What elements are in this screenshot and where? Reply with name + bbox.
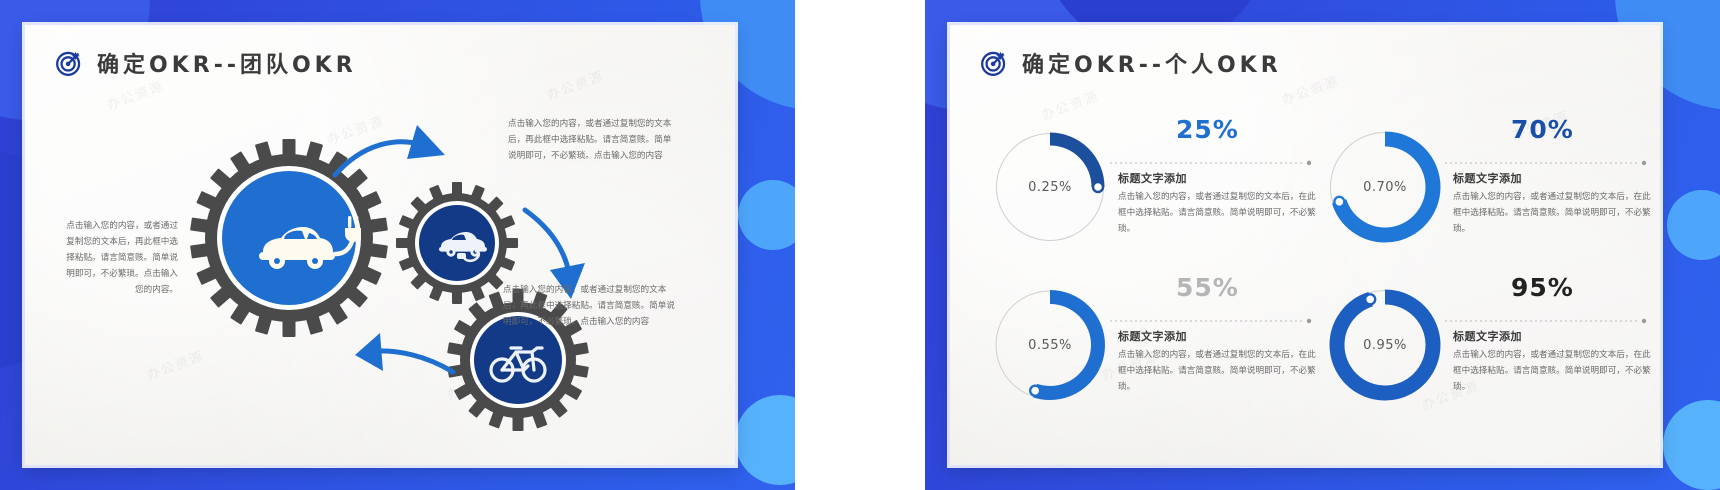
kpi-70-ring-label: 0.70% <box>1325 127 1445 247</box>
kpi-55-ring-label: 0.55% <box>990 285 1110 405</box>
kpi-70-subtitle: 标题文字添加 <box>1453 170 1653 186</box>
two-slide-preview: 办公资源 办公资源 办公资源 办公资源 办公资源 确定OKR--团队OKR <box>0 0 1720 490</box>
watermark: 办公资源 <box>1279 70 1342 108</box>
slide2-title-row: 确定OKR--个人OKR <box>980 47 1282 79</box>
watermark: 办公资源 <box>144 345 207 383</box>
kpi-95-body: 点击输入您的内容，或者通过复制您的文本后，在此框中选择粘贴。请言简意赅。简单说明… <box>1453 348 1653 396</box>
kpi-95-subtitle: 标题文字添加 <box>1453 328 1653 344</box>
kpi-55-body: 点击输入您的内容，或者通过复制您的文本后，在此框中选择粘贴。请言简意赅。简单说明… <box>1118 348 1318 396</box>
kpi-55-text: 标题文字添加 点击输入您的内容，或者通过复制您的文本后，在此框中选择粘贴。请言简… <box>1118 328 1318 396</box>
kpi-55-percent: 55% <box>1176 273 1239 302</box>
watermark: 办公资源 <box>324 110 387 148</box>
kpi-70-text: 标题文字添加 点击输入您的内容，或者通过复制您的文本后，在此框中选择粘贴。请言简… <box>1453 170 1653 238</box>
watermark: 办公资源 <box>104 75 167 113</box>
arrow-bottom <box>355 333 453 372</box>
kpi-95[interactable]: 0.95% 95% 标题文字添加 点击输入您的内容，或者通过复制您的文本后，在此… <box>1325 271 1655 431</box>
kpi-95-percent: 95% <box>1511 273 1574 302</box>
kpi-25-subtitle: 标题文字添加 <box>1118 170 1318 186</box>
slide-team-okr[interactable]: 办公资源 办公资源 办公资源 办公资源 办公资源 确定OKR--团队OKR <box>0 0 795 490</box>
text-left-block: 点击输入您的内容，或者通过复制您的文本后，再此框中选择粘贴。请言简意赅。简单说明… <box>60 219 178 298</box>
kpi-25-body: 点击输入您的内容，或者通过复制您的文本后，在此框中选择粘贴。请言简意赅。简单说明… <box>1118 190 1318 238</box>
text-top-right-block: 点击输入您的内容，或者通过复制您的文本后，再此框中选择粘贴。请言简意赅。简单说明… <box>508 117 678 165</box>
kpi-55[interactable]: 0.55% 55% 标题文字添加 点击输入您的内容，或者通过复制您的文本后，在此… <box>990 271 1320 431</box>
kpi-25[interactable]: 0.25% 25% 标题文字添加 点击输入您的内容，或者通过复制您的文本后，在此… <box>990 113 1320 273</box>
kpi-25-percent: 25% <box>1176 115 1239 144</box>
kpi-95-text: 标题文字添加 点击输入您的内容，或者通过复制您的文本后，在此框中选择粘贴。请言简… <box>1453 328 1653 396</box>
watermark: 办公资源 <box>444 365 507 403</box>
gear-electric-car <box>190 139 388 337</box>
kpi-95-ring-label: 0.95% <box>1325 285 1445 405</box>
page-title: 确定OKR--个人OKR <box>1022 47 1282 79</box>
slide2-content-card: 办公资源 办公资源 办公资源 办公资源 办公资源 确定OKR--个人OKR <box>950 25 1660 465</box>
target-dart-icon <box>55 49 83 77</box>
watermark: 办公资源 <box>544 65 607 103</box>
slide-personal-okr[interactable]: 办公资源 办公资源 办公资源 办公资源 办公资源 确定OKR--个人OKR <box>925 0 1720 490</box>
kpi-25-ring-label: 0.25% <box>990 127 1110 247</box>
kpi-55-leader-line <box>1108 318 1314 324</box>
text-bottom-right-block: 点击输入您的内容，或者通过复制您的文本后，再此框中选择粘贴。请言简意赅。简单说明… <box>503 283 678 331</box>
kpi-95-leader-line <box>1443 318 1649 324</box>
slide1-title-row: 确定OKR--团队OKR <box>55 47 357 79</box>
kpi-70[interactable]: 0.70% 70% 标题文字添加 点击输入您的内容，或者通过复制您的文本后，在此… <box>1325 113 1655 273</box>
kpi-25-leader-line <box>1108 160 1314 166</box>
kpi-25-text: 标题文字添加 点击输入您的内容，或者通过复制您的文本后，在此框中选择粘贴。请言简… <box>1118 170 1318 238</box>
slide-gap <box>795 0 905 490</box>
kpi-70-percent: 70% <box>1511 115 1574 144</box>
gear-car <box>396 182 518 304</box>
kpi-55-subtitle: 标题文字添加 <box>1118 328 1318 344</box>
kpi-70-leader-line <box>1443 160 1649 166</box>
target-dart-icon <box>980 49 1008 77</box>
slide1-content-card: 办公资源 办公资源 办公资源 办公资源 办公资源 确定OKR--团队OKR <box>25 25 735 465</box>
kpi-70-body: 点击输入您的内容，或者通过复制您的文本后，在此框中选择粘贴。请言简意赅。简单说明… <box>1453 190 1653 238</box>
page-title: 确定OKR--团队OKR <box>97 47 357 79</box>
